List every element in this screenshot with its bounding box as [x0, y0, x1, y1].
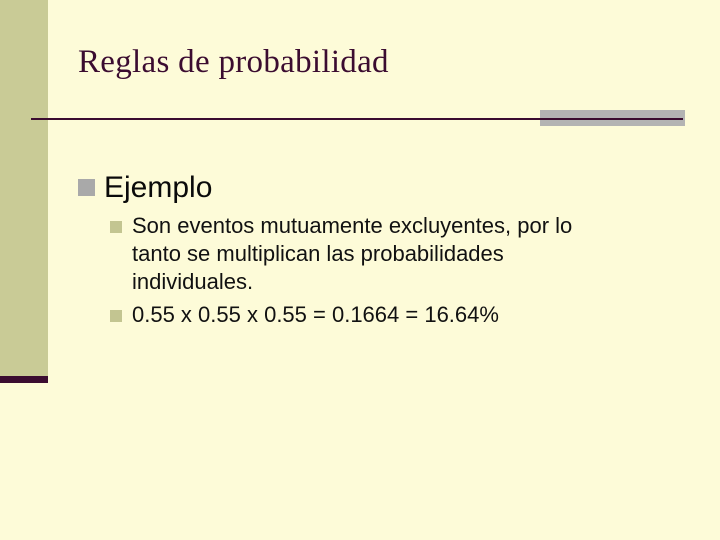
bullet-level2: 0.55 x 0.55 x 0.55 = 0.1664 = 16.64% — [110, 301, 688, 329]
bullet-level1: Ejemplo — [78, 170, 688, 206]
bullet-text-line: 0.55 x 0.55 x 0.55 = 0.1664 = 16.64% — [132, 301, 499, 329]
sidebar-decoration — [0, 0, 48, 376]
slide-body: Ejemplo Son eventos mutuamente excluyent… — [78, 170, 688, 334]
bullet-level2-text: Son eventos mutuamente excluyentes, por … — [132, 212, 572, 296]
bullet-text-line: tanto se multiplican las probabilidades — [132, 240, 572, 268]
bullet-level2-text: 0.55 x 0.55 x 0.55 = 0.1664 = 16.64% — [132, 301, 499, 329]
square-bullet-icon — [78, 179, 95, 196]
bullet-level1-label: Ejemplo — [104, 170, 212, 206]
page-title: Reglas de probabilidad — [78, 43, 678, 81]
bullet-level2-group: Son eventos mutuamente excluyentes, por … — [110, 212, 688, 329]
title-divider — [31, 118, 683, 120]
bullet-text-line: individuales. — [132, 268, 572, 296]
sidebar-accent-bar — [0, 376, 48, 383]
bullet-level2: Son eventos mutuamente excluyentes, por … — [110, 212, 688, 296]
slide-canvas: Reglas de probabilidad Ejemplo Son event… — [0, 0, 720, 540]
bullet-text-line: Son eventos mutuamente excluyentes, por … — [132, 212, 572, 240]
square-bullet-icon — [110, 310, 122, 322]
square-bullet-icon — [110, 221, 122, 233]
